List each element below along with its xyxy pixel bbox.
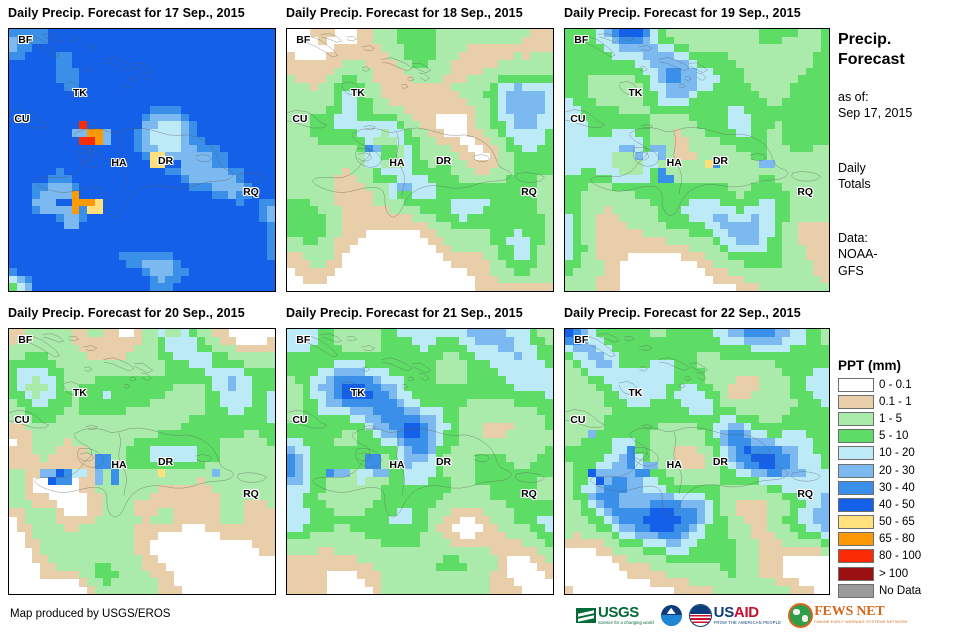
panel-title-6: Daily Precip. Forecast for 22 Sep., 2015 [564,306,801,320]
legend-swatch [838,464,874,478]
legend-item: 65 - 80 [838,531,966,548]
map-panel-22-sep[interactable]: BFTKCUHADRRQ [564,328,830,595]
country-label-tk: TK [628,87,642,99]
country-label-bf: BF [296,34,310,46]
as-of-label: as of: [838,89,966,105]
legend-item: 10 - 20 [838,445,966,462]
country-label-rq: RQ [521,186,537,198]
legend-label: > 100 [879,568,908,580]
legend-label: 0 - 0.1 [879,379,912,391]
fews-net-logo-text: FEWS NET [814,605,907,619]
country-label-tk: TK [73,87,87,99]
fews-globe-icon [788,603,813,628]
fews-net-logo: FEWS NET FAMINE EARLY WARNING SYSTEMS NE… [788,602,907,628]
legend-item: 0.1 - 1 [838,393,966,410]
legend-item: 30 - 40 [838,479,966,496]
legend-swatch [838,567,874,581]
as-of-date: Sep 17, 2015 [838,105,966,121]
legend-label: 65 - 80 [879,533,915,545]
agency-logos: USGS science for a changing world USAID … [576,601,908,629]
precip-raster [565,29,829,291]
country-label-tk: TK [628,387,642,399]
fews-net-logo-subtext: FAMINE EARLY WARNING SYSTEMS NETWORK [814,621,907,625]
country-label-bf: BF [18,34,32,46]
legend-label: 80 - 100 [879,550,921,562]
legend-rows: 0 - 0.10.1 - 11 - 55 - 1010 - 2020 - 303… [838,376,966,599]
legend-label: 40 - 50 [879,499,915,511]
country-label-tk: TK [351,87,365,99]
country-label-cu: CU [292,414,307,426]
country-label-dr: DR [158,155,173,167]
usgs-logo-subtext: science for a changing world [598,621,654,625]
legend-swatch [838,395,874,409]
country-label-rq: RQ [521,488,537,500]
country-label-ha: HA [111,157,126,169]
totals-line1: Daily [838,160,966,176]
legend-item: 5 - 10 [838,428,966,445]
info-title-line1: Precip. [838,30,966,50]
country-label-dr: DR [436,155,451,167]
legend-swatch [838,515,874,529]
precip-raster [287,29,553,291]
country-label-cu: CU [570,113,585,125]
country-label-rq: RQ [243,488,259,500]
noaa-logo [661,602,682,628]
usgs-wave-icon [576,608,596,623]
legend-label: 10 - 20 [879,447,915,459]
usaid-logo: USAID FROM THE AMERICAN PEOPLE [689,602,782,628]
usaid-logo-subtext: FROM THE AMERICAN PEOPLE [714,621,782,625]
legend-swatch [838,378,874,392]
country-label-ha: HA [667,157,682,169]
panel-title-1: Daily Precip. Forecast for 17 Sep., 2015 [8,6,245,20]
legend-swatch [838,446,874,460]
country-label-ha: HA [389,157,404,169]
legend-item: 40 - 50 [838,496,966,513]
legend-item: 80 - 100 [838,548,966,565]
legend-item: 20 - 30 [838,462,966,479]
legend-label: 5 - 10 [879,430,908,442]
country-label-cu: CU [570,414,585,426]
country-label-ha: HA [111,459,126,471]
country-label-cu: CU [14,113,29,125]
legend-item: 50 - 65 [838,514,966,531]
usaid-seal-icon [689,604,712,627]
info-title-line2: Forecast [838,50,966,70]
legend-swatch [838,498,874,512]
country-label-bf: BF [574,334,588,346]
country-label-dr: DR [713,155,728,167]
data-source-label: Data: [838,230,966,246]
usgs-logo: USGS science for a changing world [576,602,654,628]
country-label-tk: TK [73,387,87,399]
country-label-dr: DR [158,456,173,468]
legend-item: 1 - 5 [838,410,966,427]
legend-label: 50 - 65 [879,516,915,528]
data-source-line2: GFS [838,263,966,279]
legend-label: No Data [879,585,921,597]
legend-title: PPT (mm) [838,358,966,373]
map-panel-18-sep[interactable]: BFTKCUHADRRQ [286,28,554,292]
country-label-ha: HA [389,459,404,471]
legend-swatch [838,481,874,495]
legend-label: 30 - 40 [879,482,915,494]
noaa-seal-icon [661,605,682,626]
usaid-logo-text-aid: AID [734,604,759,621]
legend-label: 0.1 - 1 [879,396,912,408]
legend-swatch [838,584,874,598]
precip-raster [9,329,275,594]
country-label-dr: DR [713,456,728,468]
panel-title-3: Daily Precip. Forecast for 19 Sep., 2015 [564,6,801,20]
map-panel-21-sep[interactable]: BFTKCUHADRRQ [286,328,554,595]
country-label-ha: HA [667,459,682,471]
legend-item: No Data [838,582,966,599]
legend-item: 0 - 0.1 [838,376,966,393]
map-panel-19-sep[interactable]: BFTKCUHADRRQ [564,28,830,292]
legend-item: > 100 [838,565,966,582]
legend-swatch [838,549,874,563]
precip-raster [9,29,275,291]
panel-title-5: Daily Precip. Forecast for 21 Sep., 2015 [286,306,523,320]
legend: PPT (mm) 0 - 0.10.1 - 11 - 55 - 1010 - 2… [838,358,966,599]
country-label-bf: BF [296,334,310,346]
totals-line2: Totals [838,176,966,192]
country-label-rq: RQ [243,186,259,198]
info-column: Precip. Forecast as of: Sep 17, 2015 Dai… [838,30,966,279]
country-label-dr: DR [436,456,451,468]
legend-swatch [838,429,874,443]
country-label-bf: BF [574,34,588,46]
precip-raster [287,329,553,594]
panel-title-4: Daily Precip. Forecast for 20 Sep., 2015 [8,306,245,320]
panel-title-2: Daily Precip. Forecast for 18 Sep., 2015 [286,6,523,20]
country-label-rq: RQ [797,186,813,198]
country-label-bf: BF [18,334,32,346]
legend-label: 20 - 30 [879,465,915,477]
data-source-line1: NOAA- [838,246,966,262]
legend-swatch [838,532,874,546]
legend-swatch [838,412,874,426]
country-label-rq: RQ [797,488,813,500]
precip-raster [565,329,829,594]
country-label-tk: TK [351,387,365,399]
map-panel-17-sep[interactable]: BFTKCUHADRRQ [8,28,276,292]
map-credit: Map produced by USGS/EROS [10,608,170,620]
usgs-logo-text: USGS [598,605,654,620]
country-label-cu: CU [292,113,307,125]
legend-label: 1 - 5 [879,413,902,425]
country-label-cu: CU [14,414,29,426]
map-panel-20-sep[interactable]: BFTKCUHADRRQ [8,328,276,595]
usaid-logo-text-us: US [714,604,734,621]
